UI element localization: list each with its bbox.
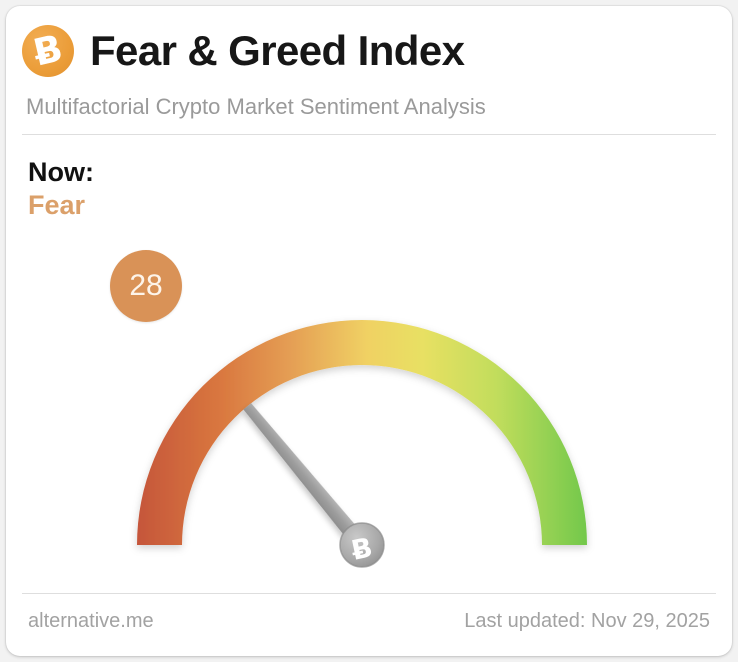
gauge-needle bbox=[241, 401, 368, 550]
hub-bitcoin-glyph: Ƀ bbox=[349, 532, 376, 567]
gauge-value-badge: 28 bbox=[110, 250, 182, 322]
status-block: Now: Fear bbox=[28, 156, 94, 222]
page-title: Fear & Greed Index bbox=[90, 27, 464, 75]
page-subtitle: Multifactorial Crypto Market Sentiment A… bbox=[26, 94, 486, 120]
gauge-hub bbox=[340, 523, 384, 567]
header-divider bbox=[22, 134, 716, 135]
card-header: Ƀ Fear & Greed Index Multifactorial Cryp… bbox=[22, 20, 716, 128]
bitcoin-glyph: Ƀ bbox=[30, 29, 66, 71]
fear-greed-card: Ƀ Fear & Greed Index Multifactorial Cryp… bbox=[6, 6, 732, 656]
card-footer: alternative.me Last updated: Nov 29, 202… bbox=[28, 610, 710, 633]
gauge-arc bbox=[137, 320, 587, 545]
last-updated-label: Last updated: Nov 29, 2025 bbox=[464, 610, 710, 633]
source-label[interactable]: alternative.me bbox=[28, 610, 154, 633]
status-now-label: Now: bbox=[28, 156, 94, 189]
status-sentiment: Fear bbox=[28, 189, 94, 222]
title-row: Ƀ Fear & Greed Index bbox=[22, 20, 464, 82]
gauge-value-text: 28 bbox=[129, 271, 162, 301]
bitcoin-icon: Ƀ bbox=[22, 25, 74, 77]
footer-divider bbox=[22, 593, 716, 594]
